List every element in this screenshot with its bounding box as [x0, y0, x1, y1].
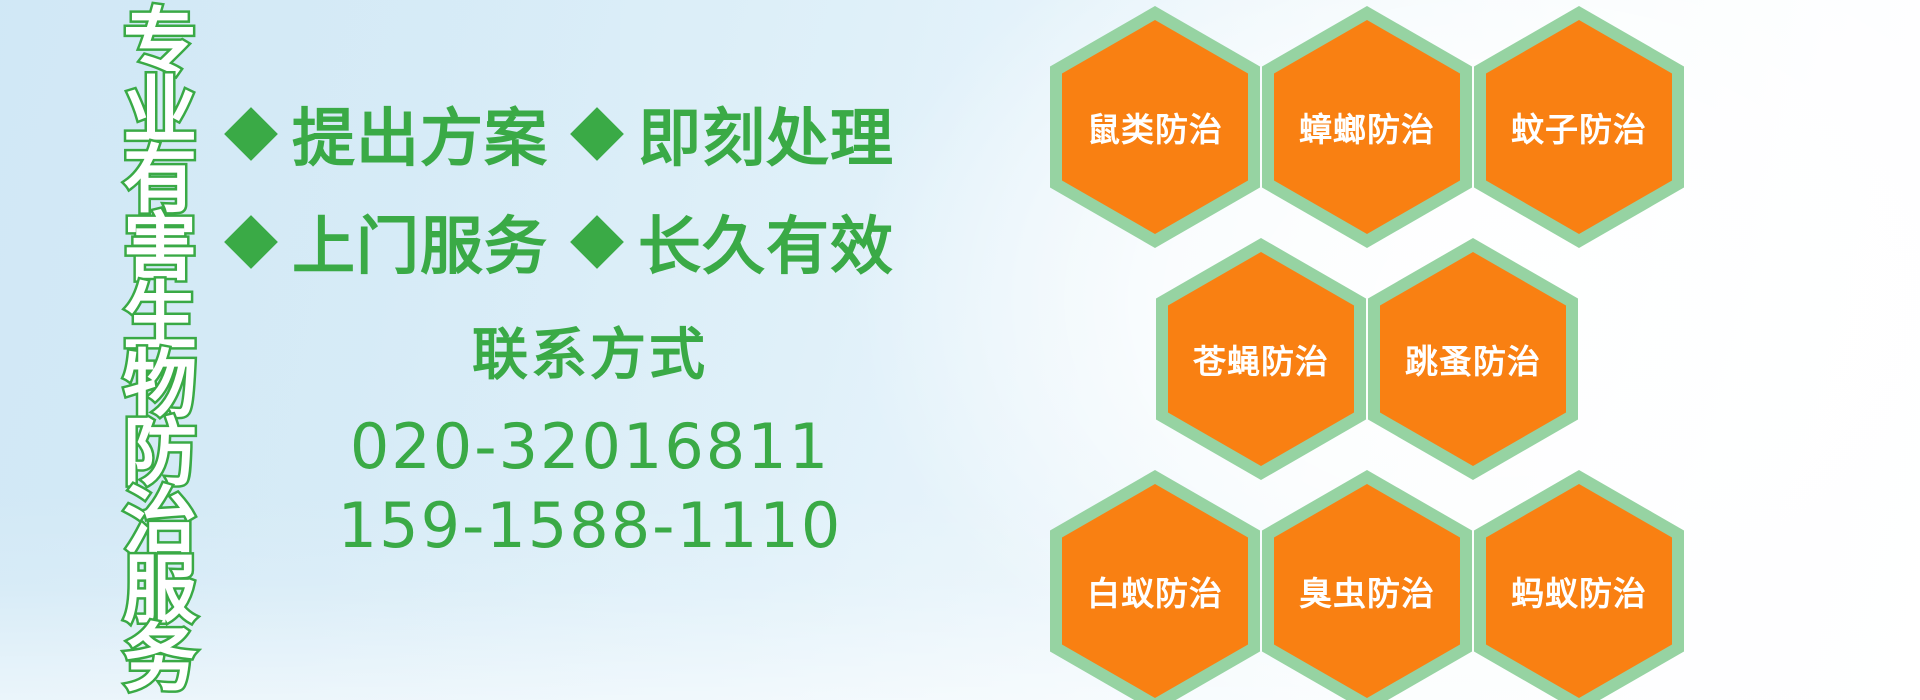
- hex-inner: 蚊子防治: [1486, 20, 1672, 234]
- service-hex-bedbug[interactable]: 臭虫防治: [1262, 470, 1472, 700]
- feature-item-onsite-service: 上门服务: [232, 196, 548, 287]
- diamond-icon: [224, 107, 278, 161]
- feature-label: 即刻处理: [638, 88, 894, 179]
- vertical-headline-char: 专: [123, 8, 197, 76]
- hex-inner: 蚂蚁防治: [1486, 484, 1672, 698]
- vertical-headline-char: 物: [123, 350, 197, 418]
- diamond-icon: [570, 107, 624, 161]
- service-label: 鼠类防治: [1087, 103, 1223, 151]
- service-hexagon-grid: 鼠类防治 蟑螂防治 蚊子防治 苍蝇防治 跳蚤防治 白蚁防: [1050, 0, 1840, 700]
- hex-inner: 鼠类防治: [1062, 20, 1248, 234]
- vertical-headline: 专 业 有 害 生 物 防 治 服 务: [108, 8, 212, 692]
- feature-row-2: 上门服务 长久有效: [232, 196, 894, 287]
- feature-item-immediate-treatment: 即刻处理: [578, 88, 894, 179]
- diamond-icon: [224, 215, 278, 269]
- feature-row-1: 提出方案 即刻处理: [232, 88, 894, 179]
- service-label: 苍蝇防治: [1193, 335, 1329, 383]
- feature-label: 上门服务: [292, 196, 548, 287]
- contact-block: 联系方式 020-32016811 159-1588-1110: [300, 310, 880, 566]
- feature-label: 长久有效: [638, 196, 894, 287]
- vertical-headline-char: 服: [123, 555, 197, 623]
- service-label: 蚊子防治: [1511, 103, 1647, 151]
- service-hex-flea[interactable]: 跳蚤防治: [1368, 238, 1578, 480]
- service-label: 蚂蚁防治: [1511, 567, 1647, 615]
- service-hex-ant[interactable]: 蚂蚁防治: [1474, 470, 1684, 700]
- service-hex-fly[interactable]: 苍蝇防治: [1156, 238, 1366, 480]
- hex-inner: 跳蚤防治: [1380, 252, 1566, 466]
- service-label: 白蚁防治: [1087, 567, 1223, 615]
- vertical-headline-char: 业: [123, 76, 197, 144]
- pest-control-banner: 专 业 有 害 生 物 防 治 服 务 提出方案 即刻处理 上门服务 长久有效: [0, 0, 1920, 700]
- vertical-headline-char: 有: [123, 145, 197, 213]
- service-label: 跳蚤防治: [1405, 335, 1541, 383]
- feature-item-long-lasting: 长久有效: [578, 196, 894, 287]
- hex-inner: 臭虫防治: [1274, 484, 1460, 698]
- vertical-headline-char: 防: [123, 418, 197, 486]
- hex-inner: 白蚁防治: [1062, 484, 1248, 698]
- vertical-headline-char: 生: [123, 282, 197, 350]
- service-hex-rodent[interactable]: 鼠类防治: [1050, 6, 1260, 248]
- phone-landline[interactable]: 020-32016811: [300, 407, 880, 486]
- feature-label: 提出方案: [292, 88, 548, 179]
- hex-inner: 苍蝇防治: [1168, 252, 1354, 466]
- vertical-headline-char: 务: [123, 624, 197, 692]
- vertical-headline-char: 治: [123, 487, 197, 555]
- hex-inner: 蟑螂防治: [1274, 20, 1460, 234]
- phone-mobile[interactable]: 159-1588-1110: [300, 486, 880, 565]
- contact-title: 联系方式: [300, 310, 880, 391]
- vertical-headline-char: 害: [123, 213, 197, 281]
- service-label: 臭虫防治: [1299, 567, 1435, 615]
- service-hex-cockroach[interactable]: 蟑螂防治: [1262, 6, 1472, 248]
- service-hex-termite[interactable]: 白蚁防治: [1050, 470, 1260, 700]
- diamond-icon: [570, 215, 624, 269]
- service-label: 蟑螂防治: [1299, 103, 1435, 151]
- service-hex-mosquito[interactable]: 蚊子防治: [1474, 6, 1684, 248]
- feature-item-propose-plan: 提出方案: [232, 88, 548, 179]
